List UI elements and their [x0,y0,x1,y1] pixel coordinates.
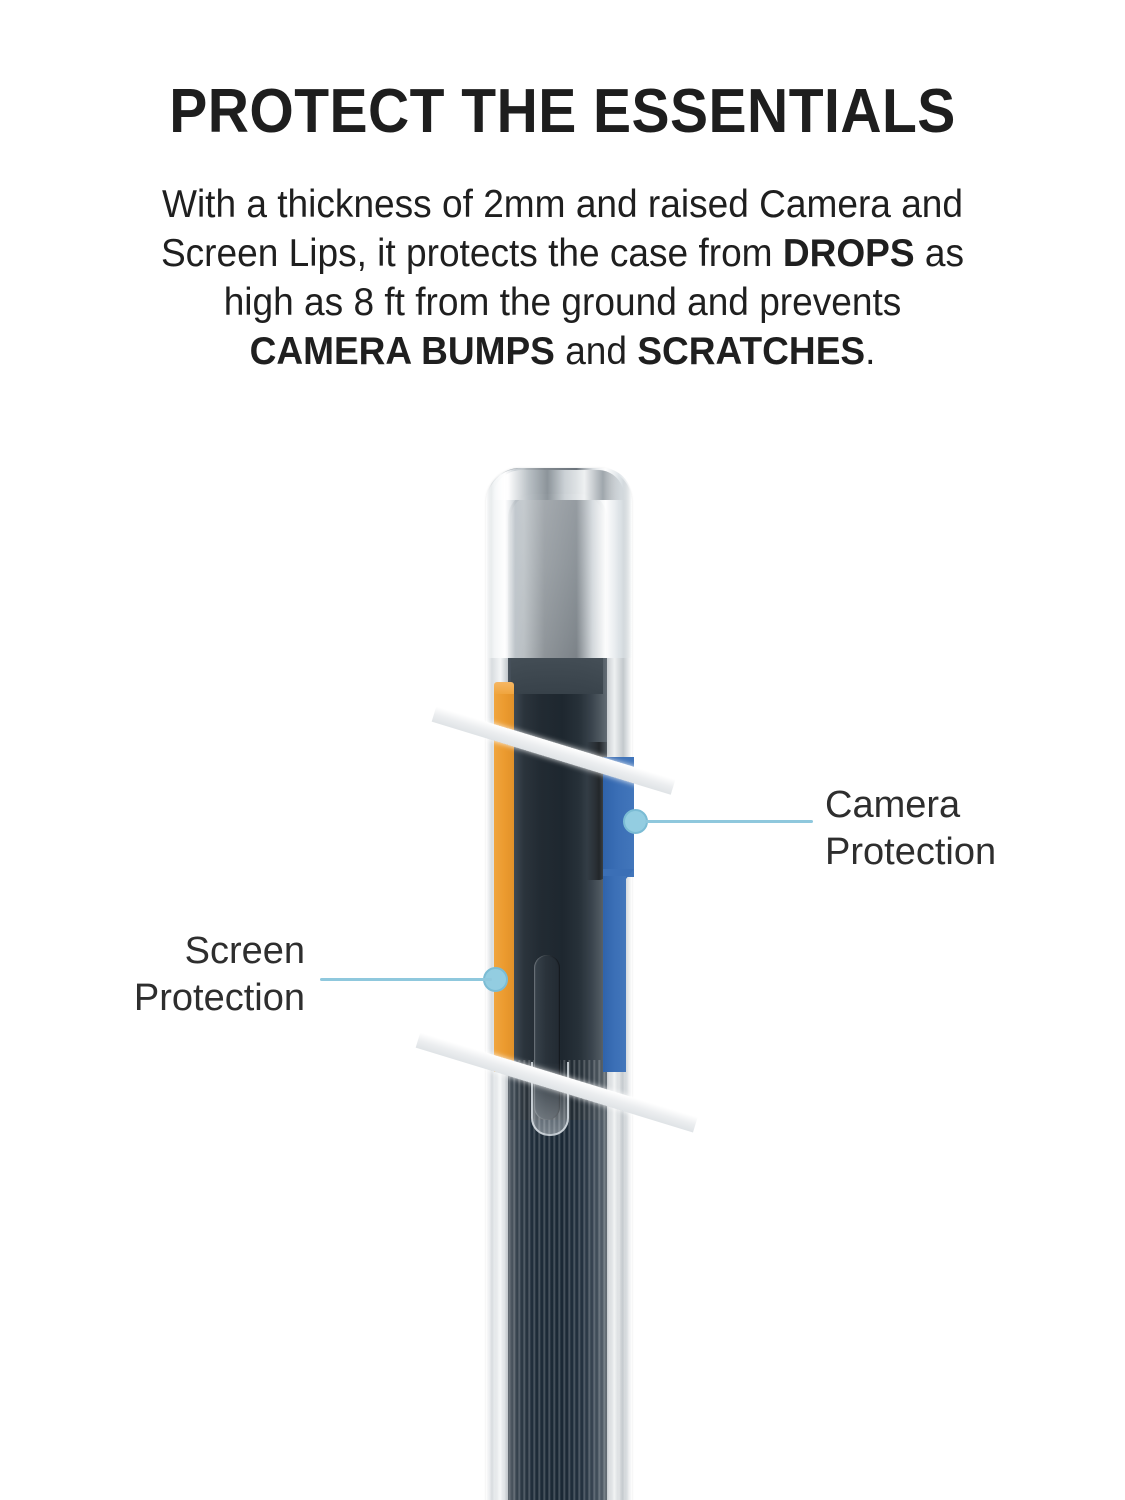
callout-label-screen-protection: Screen Protection [55,928,305,1022]
product-image [0,0,1125,1500]
callout-camera-line-1: Camera [825,782,1085,829]
callout-leader-line-camera [645,820,813,823]
callout-screen-line-2: Protection [55,975,305,1022]
callout-leader-line-screen [320,978,492,981]
screen-lip-orange-tip [494,682,514,694]
camera-lip-blue-lower [603,876,626,1072]
clear-case-top-rim [492,470,624,500]
phone-body-lower [510,1120,605,1500]
callout-camera-line-2: Protection [825,829,1085,876]
callout-label-camera-protection: Camera Protection [825,782,1085,876]
callout-screen-line-1: Screen [55,928,305,975]
screen-lip-orange [494,690,514,1072]
